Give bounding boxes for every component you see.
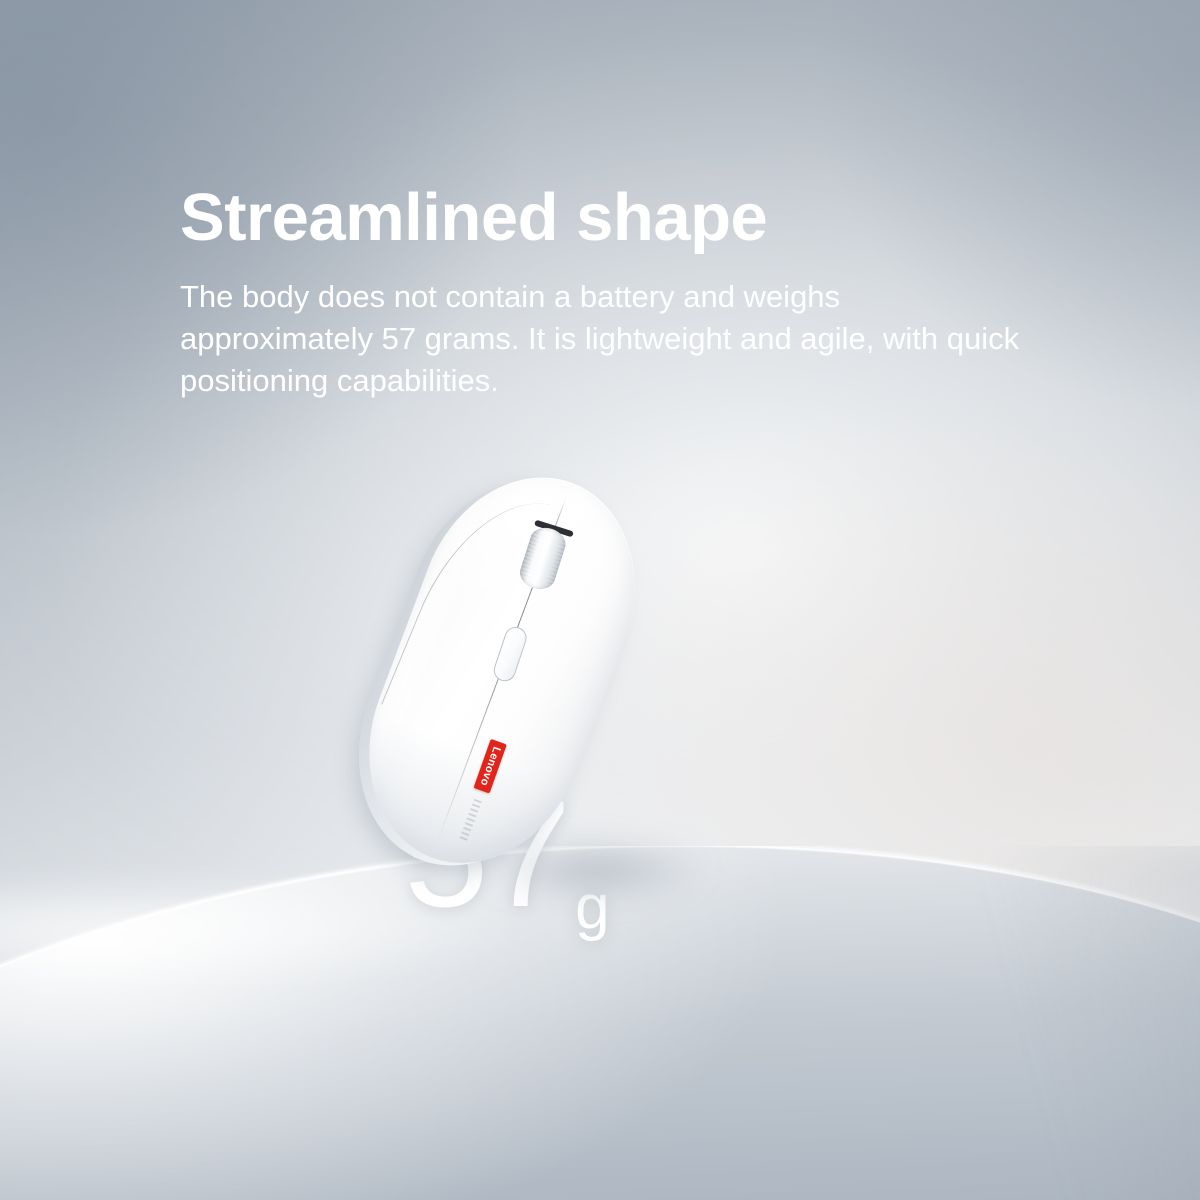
copy-block: Streamlined shape The body does not cont… — [180, 182, 1060, 402]
podium-shadow-right — [760, 846, 1200, 1200]
product-image: Lenovo — [330, 455, 770, 925]
product-feature-slide: 57g Lenovo Streamlined shape The body do… — [0, 0, 1200, 1200]
wireless-mouse: Lenovo — [334, 446, 671, 894]
page-description: The body does not contain a battery and … — [180, 276, 1020, 402]
page-title: Streamlined shape — [180, 182, 1060, 254]
